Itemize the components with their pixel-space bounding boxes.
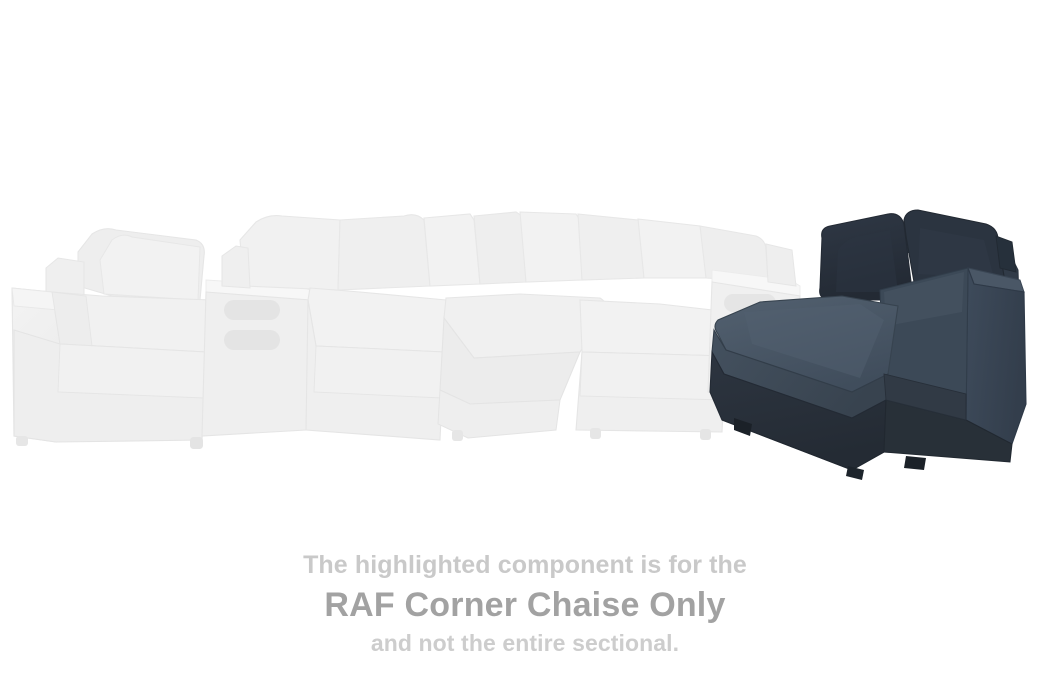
ghost-back-wing-right <box>766 244 796 286</box>
ghost-cupholder-1 <box>224 300 280 320</box>
ghost-cupholder-2 <box>224 330 280 350</box>
product-highlight-screenshot: The highlighted component is for the RAF… <box>0 0 1050 700</box>
caption-line-1: The highlighted component is for the <box>0 548 1050 582</box>
ghost-laf-recliner <box>12 229 218 449</box>
caption-line-2-component-name: RAF Corner Chaise Only <box>0 582 1050 628</box>
ghost-seat-row-left <box>306 288 451 440</box>
ghost-back-cushion-row <box>222 212 768 290</box>
caption-line-3: and not the entire sectional. <box>0 628 1050 659</box>
ghosted-sectional-group <box>12 212 800 449</box>
chaise-foot-right <box>904 456 926 470</box>
chaise-arm-outer <box>966 268 1026 444</box>
product-illustration <box>0 0 1050 530</box>
sectional-diagram <box>0 0 1050 530</box>
chaise-foot-front-right <box>846 466 864 480</box>
ghost-console-left <box>202 280 310 436</box>
caption-block: The highlighted component is for the RAF… <box>0 548 1050 659</box>
